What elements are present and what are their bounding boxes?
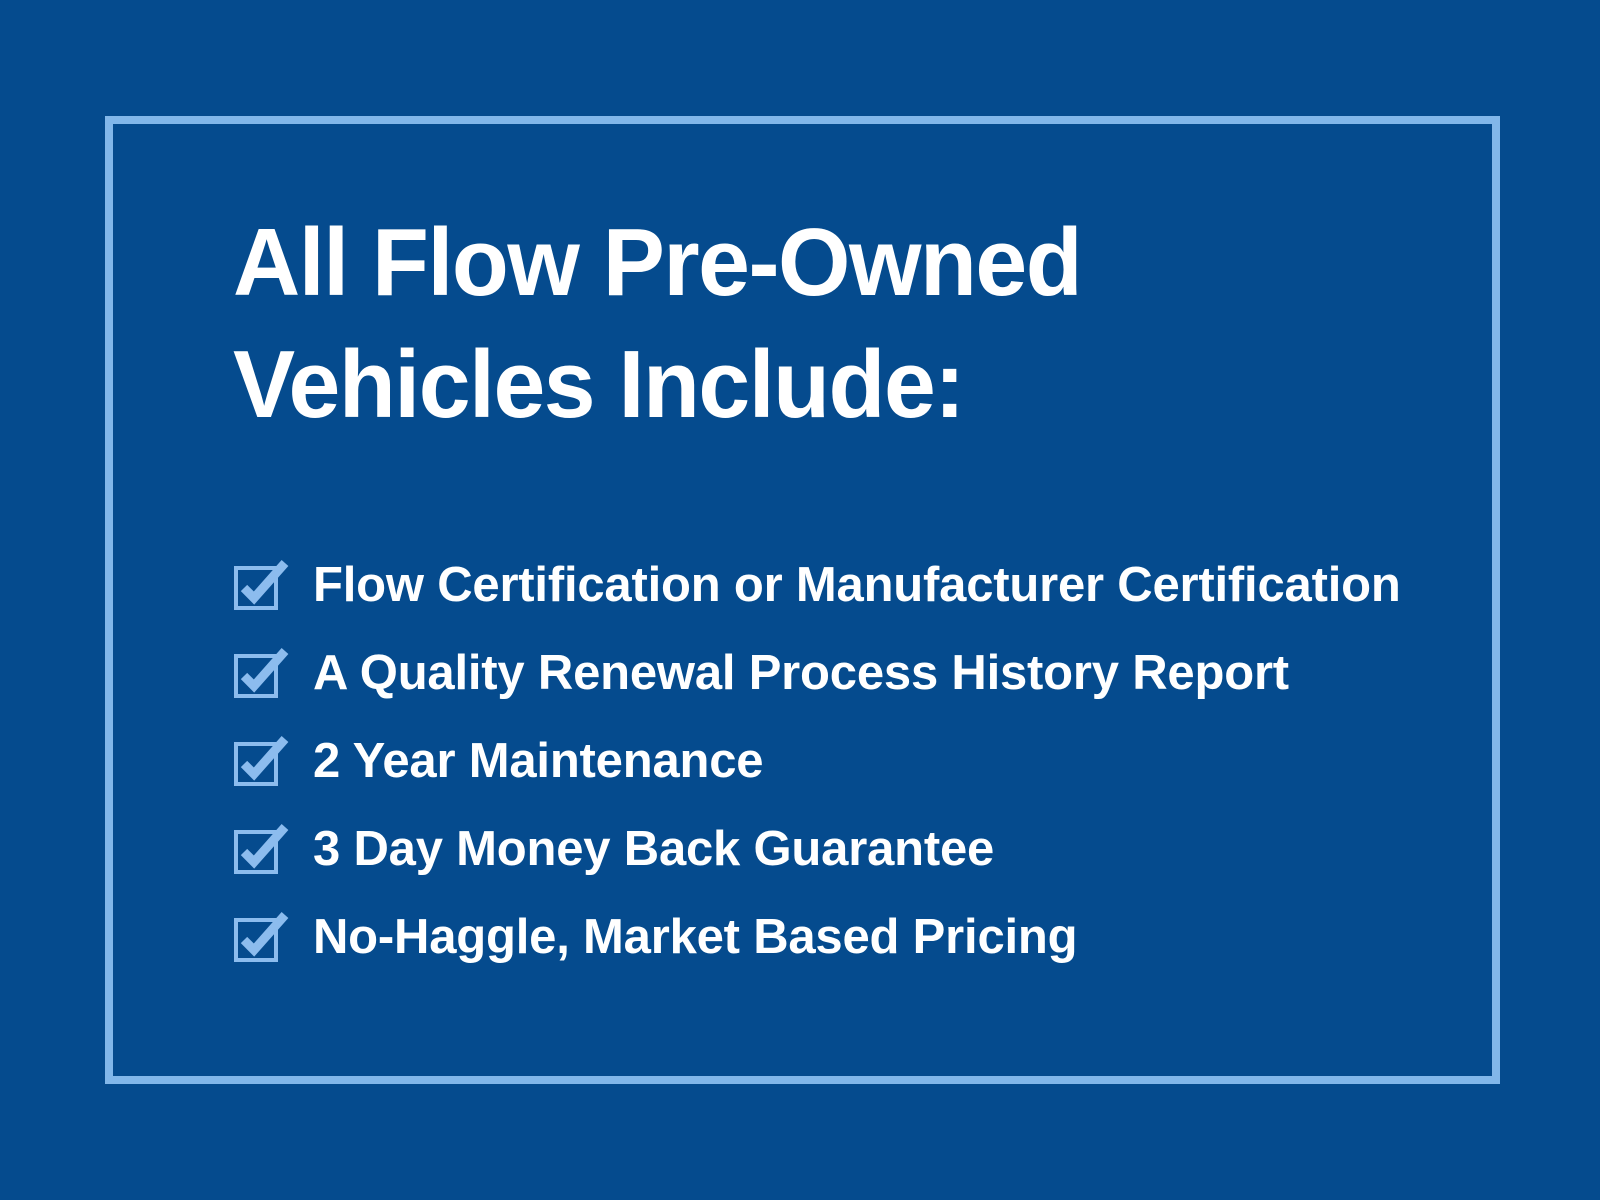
benefits-list: Flow Certification or Manufacturer Certi…: [233, 541, 1492, 981]
checked-checkbox-icon: [233, 647, 285, 699]
list-item: 3 Day Money Back Guarantee: [233, 805, 1492, 893]
checked-checkbox-icon: [233, 735, 285, 787]
list-item-label: Flow Certification or Manufacturer Certi…: [313, 557, 1401, 613]
card-content: All Flow Pre-Owned Vehicles Include: Flo…: [113, 124, 1492, 1076]
list-item-label: 2 Year Maintenance: [313, 733, 763, 789]
list-item-label: 3 Day Money Back Guarantee: [313, 821, 994, 877]
list-item: A Quality Renewal Process History Report: [233, 629, 1492, 717]
list-item-label: No-Haggle, Market Based Pricing: [313, 909, 1077, 965]
list-item: Flow Certification or Manufacturer Certi…: [233, 541, 1492, 629]
checked-checkbox-icon: [233, 823, 285, 875]
checked-checkbox-icon: [233, 911, 285, 963]
list-item-label: A Quality Renewal Process History Report: [313, 645, 1289, 701]
page-title: All Flow Pre-Owned Vehicles Include:: [233, 202, 1454, 446]
checked-checkbox-icon: [233, 559, 285, 611]
list-item: No-Haggle, Market Based Pricing: [233, 893, 1492, 981]
pre-owned-benefits-card: All Flow Pre-Owned Vehicles Include: Flo…: [105, 116, 1500, 1084]
list-item: 2 Year Maintenance: [233, 717, 1492, 805]
